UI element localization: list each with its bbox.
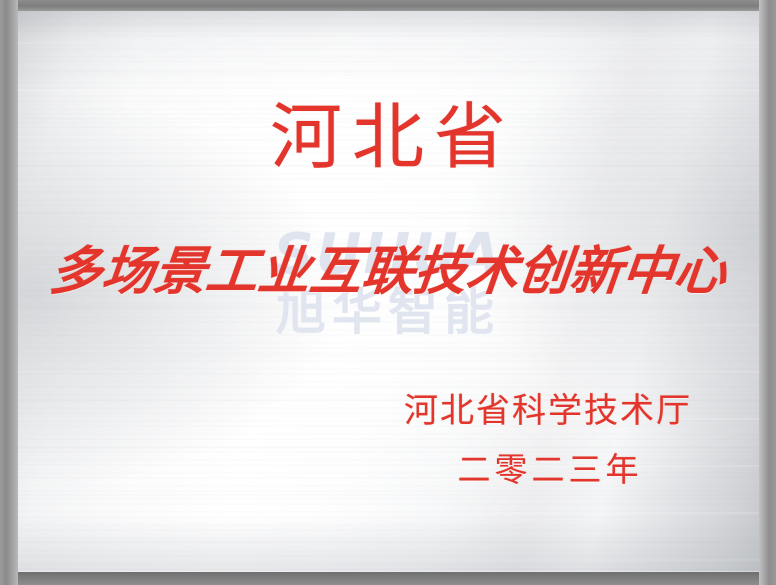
frame-edge-bottom (0, 572, 776, 585)
frame-edge-top (0, 0, 776, 11)
issuing-organization: 河北省科学技术厅 (398, 390, 698, 434)
plaque-headline: 多场景工业互联技术创新中心 (16, 242, 760, 304)
award-plaque: SUHUA 旭华智能 河北省 多场景工业互联技术创新中心 河北省科学技术厅 二零… (0, 0, 776, 585)
plaque-face: SUHUA 旭华智能 河北省 多场景工业互联技术创新中心 河北省科学技术厅 二零… (16, 10, 760, 572)
frame-edge-left (0, 0, 18, 585)
issue-year: 二零二三年 (398, 450, 698, 492)
frame-edge-right (759, 0, 776, 585)
plaque-title: 河北省 (16, 98, 760, 178)
plaque-signature: 河北省科学技术厅 二零二三年 (398, 390, 698, 492)
